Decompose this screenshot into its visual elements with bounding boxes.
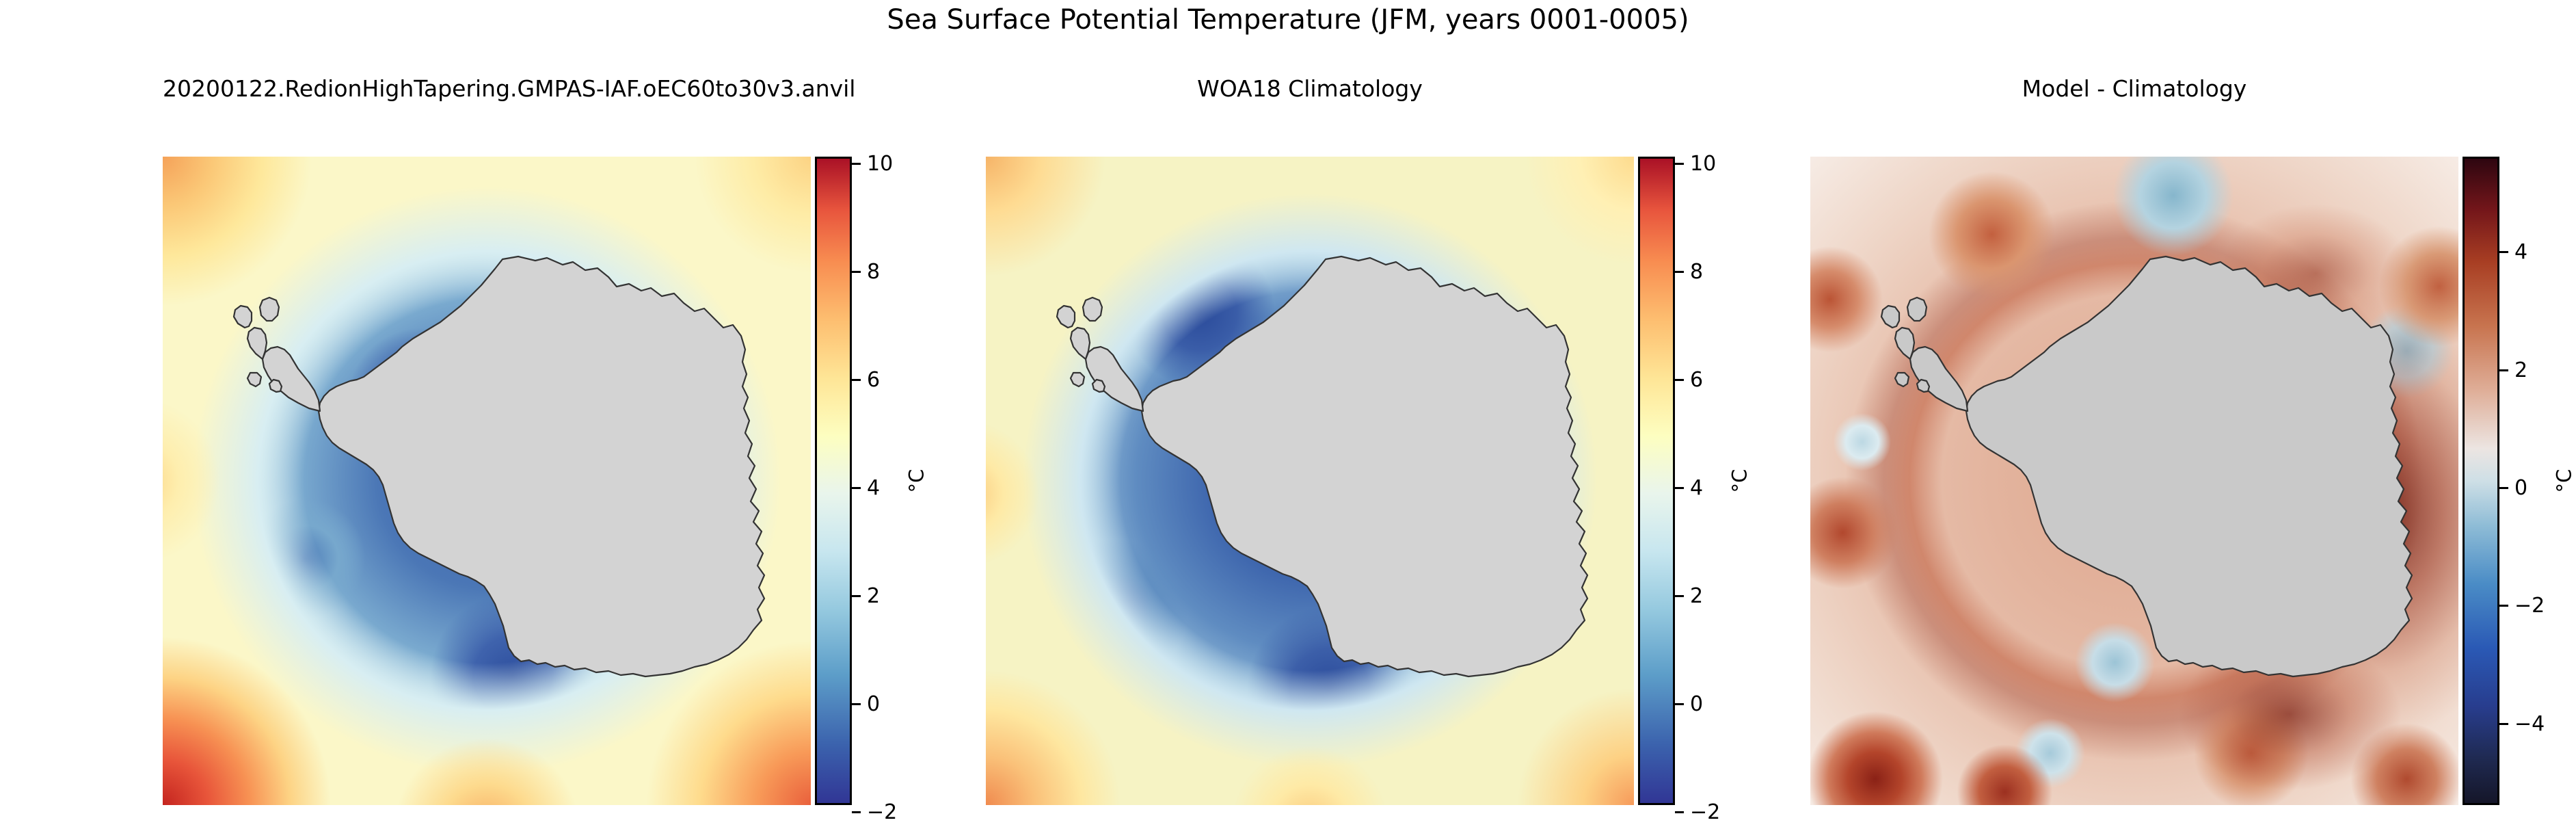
colorbar-difference [2463,157,2499,805]
colorbar-model-unit-label: °C [904,469,928,493]
antarctica-coastline-climatology [986,157,1634,805]
tick-mark [1675,595,1684,597]
tick-mark [1675,487,1684,489]
map-difference[interactable] [1810,157,2458,805]
tick-mark [1675,163,1684,165]
colorbar-climatology-unit-label: °C [1728,469,1751,493]
tick-mark [852,703,861,705]
panel-difference-title: Model - Climatology [1810,75,2458,102]
panel-model-title: 20200122.RedionHighTapering.GMPAS-IAF.oE… [163,75,811,102]
tick-mark [2499,723,2508,725]
colorbar-difference-unit-label: °C [2552,469,2575,493]
colorbar-model-unit: °C [902,157,930,805]
tick-mark [1675,379,1684,381]
tick-mark [2499,487,2508,489]
antarctica-coastline-difference [1810,157,2458,805]
tick-mark [2499,605,2508,607]
tick-mark [852,379,861,381]
antarctica-coastline-model [163,157,811,805]
tick-mark [852,271,861,273]
colorbar-model [815,157,852,805]
panel-climatology-title: WOA18 Climatology [986,75,1634,102]
tick-mark [1675,811,1684,813]
tick-mark [2499,251,2508,253]
map-climatology[interactable] [986,157,1634,805]
tick-mark [852,811,861,813]
map-model[interactable] [163,157,811,805]
colorbar-climatology-unit: °C [1726,157,1753,805]
tick-mark [852,595,861,597]
tick-mark [852,487,861,489]
figure-suptitle: Sea Surface Potential Temperature (JFM, … [0,4,2576,36]
colorbar-difference-unit: °C [2550,157,2576,805]
tick-mark [1675,703,1684,705]
tick-mark [852,163,861,165]
tick-mark [1675,271,1684,273]
colorbar-climatology [1638,157,1675,805]
tick-mark [2499,369,2508,371]
